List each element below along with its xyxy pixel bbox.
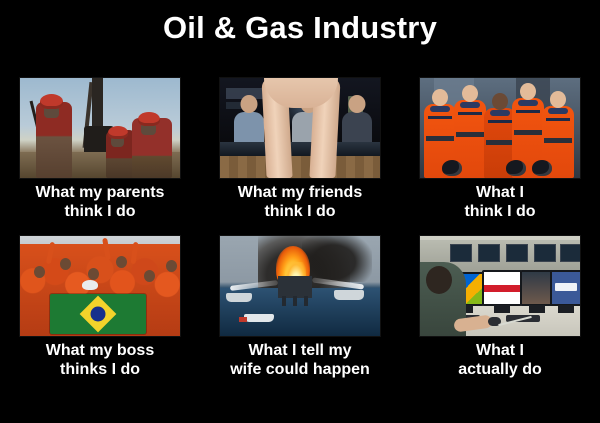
- page-title: Oil & Gas Industry: [0, 8, 600, 48]
- monitor-photo: [520, 270, 554, 306]
- photo-rig-fire: [220, 236, 380, 336]
- panel-caption: What my boss thinks I do: [5, 341, 195, 379]
- panel-what-my-parents-think-i-do: What my parents think I do: [0, 78, 200, 236]
- panel-caption: What my parents think I do: [5, 183, 195, 221]
- photo-bar-scene: [220, 78, 380, 178]
- caption-line-1: What I tell my: [205, 341, 395, 360]
- caption-line-2: actually do: [400, 360, 600, 379]
- caption-line-1: What I: [405, 183, 595, 202]
- panel-what-i-think-i-do: What I think I do: [400, 78, 600, 236]
- monitor-facebook: [550, 270, 580, 306]
- meme-image: Oil & Gas Industry Wh: [0, 0, 600, 423]
- photo-office-monitors: [420, 236, 580, 336]
- photo-crowd-brazil-flag: [20, 236, 180, 336]
- caption-line-2: think I do: [405, 202, 595, 221]
- caption-line-2: think I do: [205, 202, 395, 221]
- panel-what-i-tell-my-wife-could-happen: What I tell my wife could happen: [200, 236, 400, 394]
- panel-caption: What I think I do: [405, 183, 595, 221]
- photo-oil-rig-workers: [20, 78, 180, 178]
- caption-line-1: What I: [400, 341, 600, 360]
- panel-what-my-friends-think-i-do: What my friends think I do: [200, 78, 400, 236]
- panel-what-i-actually-do: What I actually do: [400, 236, 600, 394]
- panel-what-my-boss-thinks-i-do: What my boss thinks I do: [0, 236, 200, 394]
- panel-caption: What I tell my wife could happen: [205, 341, 395, 379]
- panel-caption: What my friends think I do: [205, 183, 395, 221]
- caption-line-2: thinks I do: [5, 360, 195, 379]
- caption-line-1: What my friends: [205, 183, 395, 202]
- photo-astronauts: [420, 78, 580, 178]
- caption-line-2: wife could happen: [205, 360, 395, 379]
- monitor-red-site: [482, 270, 522, 306]
- panel-caption: What I actually do: [400, 341, 600, 379]
- panel-grid: What my parents think I do: [0, 78, 600, 398]
- caption-line-1: What my parents: [5, 183, 195, 202]
- caption-line-1: What my boss: [5, 341, 195, 360]
- caption-line-2: think I do: [5, 202, 195, 221]
